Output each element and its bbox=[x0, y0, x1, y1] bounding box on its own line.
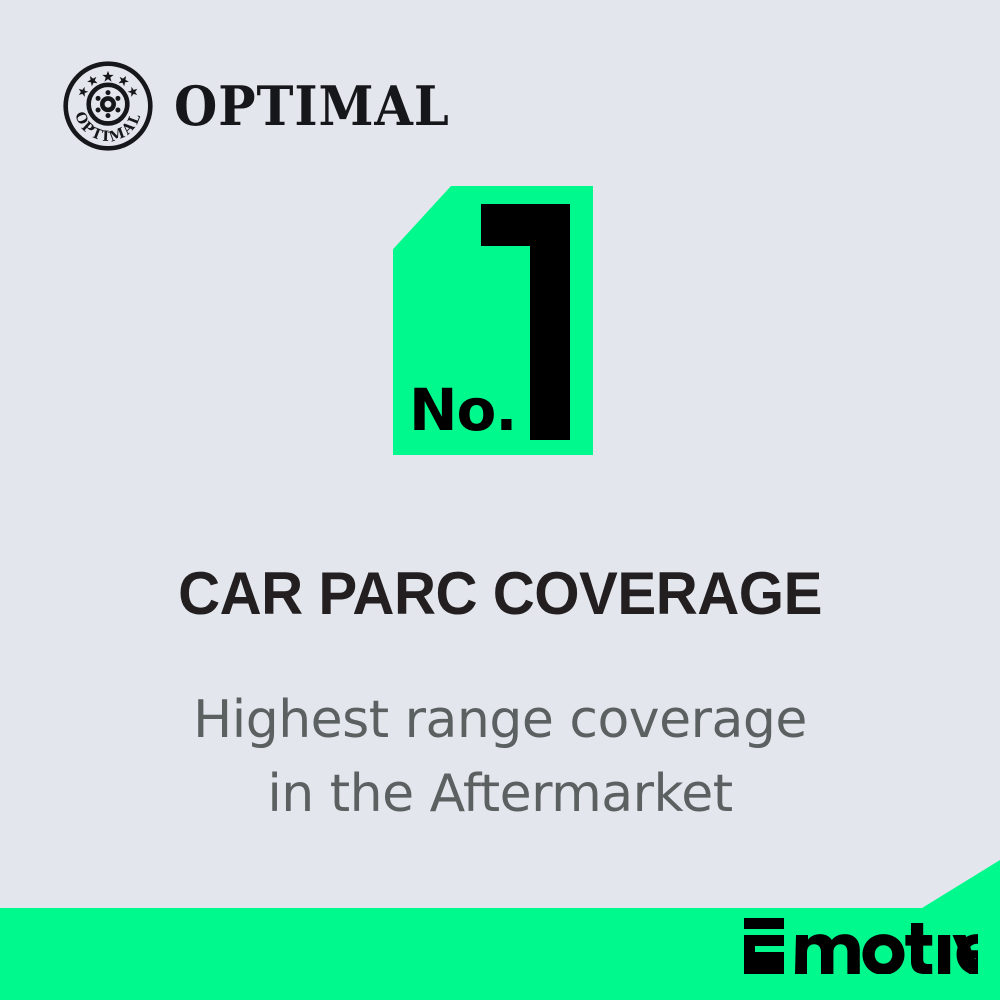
subtitle-line-1: Highest range coverage bbox=[0, 684, 1000, 758]
emotive-wordmark-icon bbox=[742, 918, 978, 974]
subtitle-line-2: in the Aftermarket bbox=[0, 758, 1000, 832]
rank-badge: No. bbox=[393, 186, 593, 455]
numeral-one-stem bbox=[530, 204, 570, 440]
page-title: CAR PARC COVERAGE bbox=[15, 564, 985, 624]
poster-canvas: OPTIMAL OPTIMAL No. CAR PARC COVERAGE Hi… bbox=[0, 0, 1000, 1000]
rank-prefix-label: No. bbox=[409, 381, 516, 439]
brand-wordmark: OPTIMAL bbox=[174, 79, 450, 133]
emotive-logo bbox=[742, 918, 978, 974]
brand-logo: OPTIMAL OPTIMAL bbox=[62, 60, 474, 152]
subtitle: Highest range coverage in the Aftermarke… bbox=[0, 684, 1000, 832]
optimal-wheel-badge-icon: OPTIMAL bbox=[62, 60, 154, 152]
